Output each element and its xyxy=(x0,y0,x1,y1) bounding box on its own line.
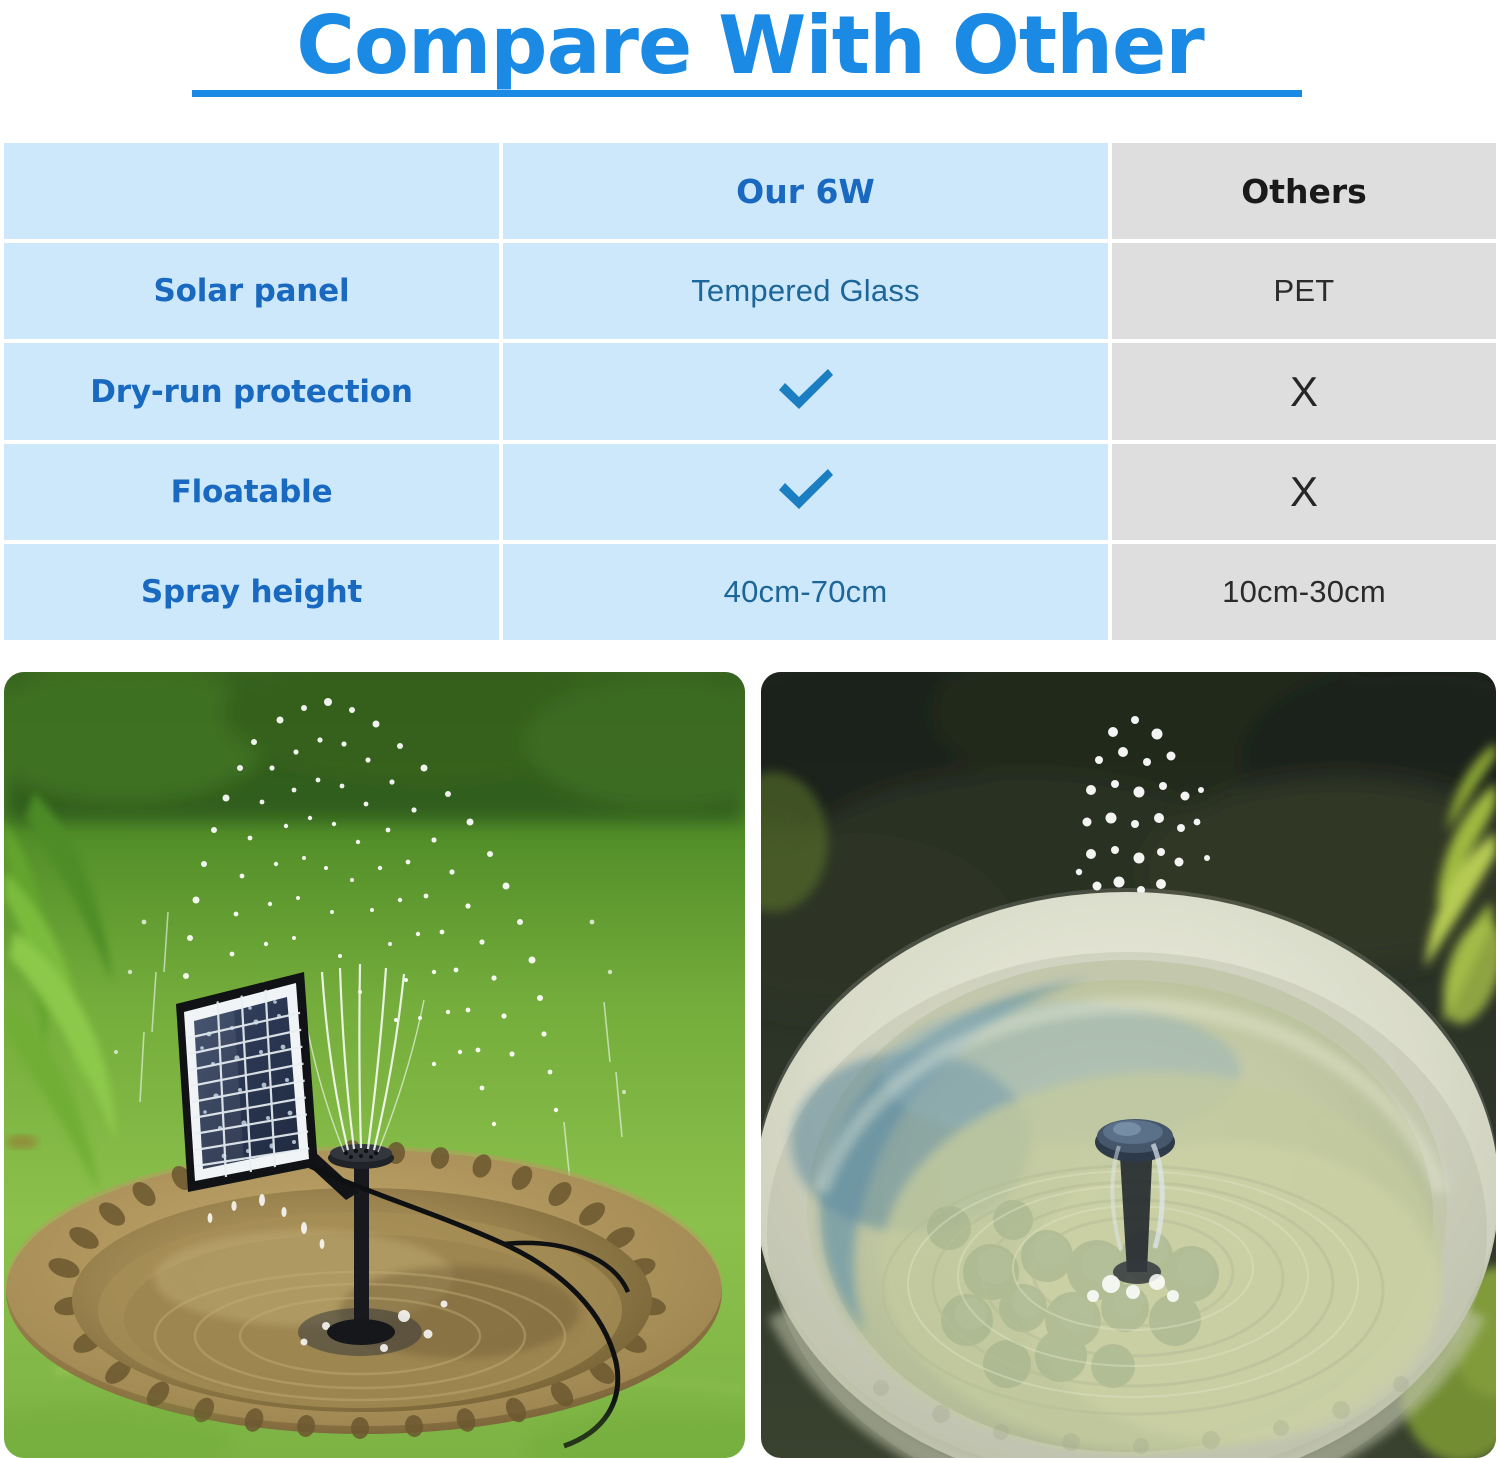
cross-icon: X xyxy=(1290,471,1318,513)
comparison-table: Our 6W Others Solar panel Tempered Glass… xyxy=(4,143,1496,640)
title-underline xyxy=(192,90,1302,97)
others-value: PET xyxy=(1274,273,1335,309)
cross-icon: X xyxy=(1290,371,1318,413)
others-cell: 10cm-30cm xyxy=(1112,544,1496,640)
ours-cell xyxy=(503,444,1108,540)
header-cell-ours: Our 6W xyxy=(503,143,1108,239)
photo-row xyxy=(4,672,1496,1458)
page-title: Compare With Other xyxy=(0,0,1500,94)
table-row: Spray height 40cm-70cm 10cm-30cm xyxy=(4,544,1496,640)
others-value: 10cm-30cm xyxy=(1222,574,1386,610)
check-icon xyxy=(775,465,837,518)
check-icon xyxy=(775,365,837,418)
header-cell-others: Others xyxy=(1112,143,1496,239)
table-row: Dry-run protection X xyxy=(4,343,1496,439)
ours-cell xyxy=(503,343,1108,439)
others-cell: X xyxy=(1112,343,1496,439)
others-cell: X xyxy=(1112,444,1496,540)
ours-value: 40cm-70cm xyxy=(724,574,888,610)
ours-value: Tempered Glass xyxy=(691,273,920,309)
feature-cell: Spray height xyxy=(4,544,499,640)
ours-cell: 40cm-70cm xyxy=(503,544,1108,640)
table-header-row: Our 6W Others xyxy=(4,143,1496,239)
feature-cell: Dry-run protection xyxy=(4,343,499,439)
title-block: Compare With Other xyxy=(0,0,1500,118)
header-others-label: Others xyxy=(1241,172,1367,211)
solar-fountain-birdbath-photo xyxy=(4,672,745,1458)
feature-label: Solar panel xyxy=(154,273,350,309)
feature-label: Floatable xyxy=(171,474,333,510)
feature-cell: Solar panel xyxy=(4,243,499,339)
feature-cell: Floatable xyxy=(4,444,499,540)
header-ours-label: Our 6W xyxy=(736,172,875,211)
competitor-fountain-birdbath-photo xyxy=(761,672,1496,1458)
feature-label: Dry-run protection xyxy=(90,374,413,410)
table-row: Floatable X xyxy=(4,444,1496,540)
header-cell-feature xyxy=(4,143,499,239)
table-row: Solar panel Tempered Glass PET xyxy=(4,243,1496,339)
ours-cell: Tempered Glass xyxy=(503,243,1108,339)
feature-label: Spray height xyxy=(141,574,362,610)
others-cell: PET xyxy=(1112,243,1496,339)
